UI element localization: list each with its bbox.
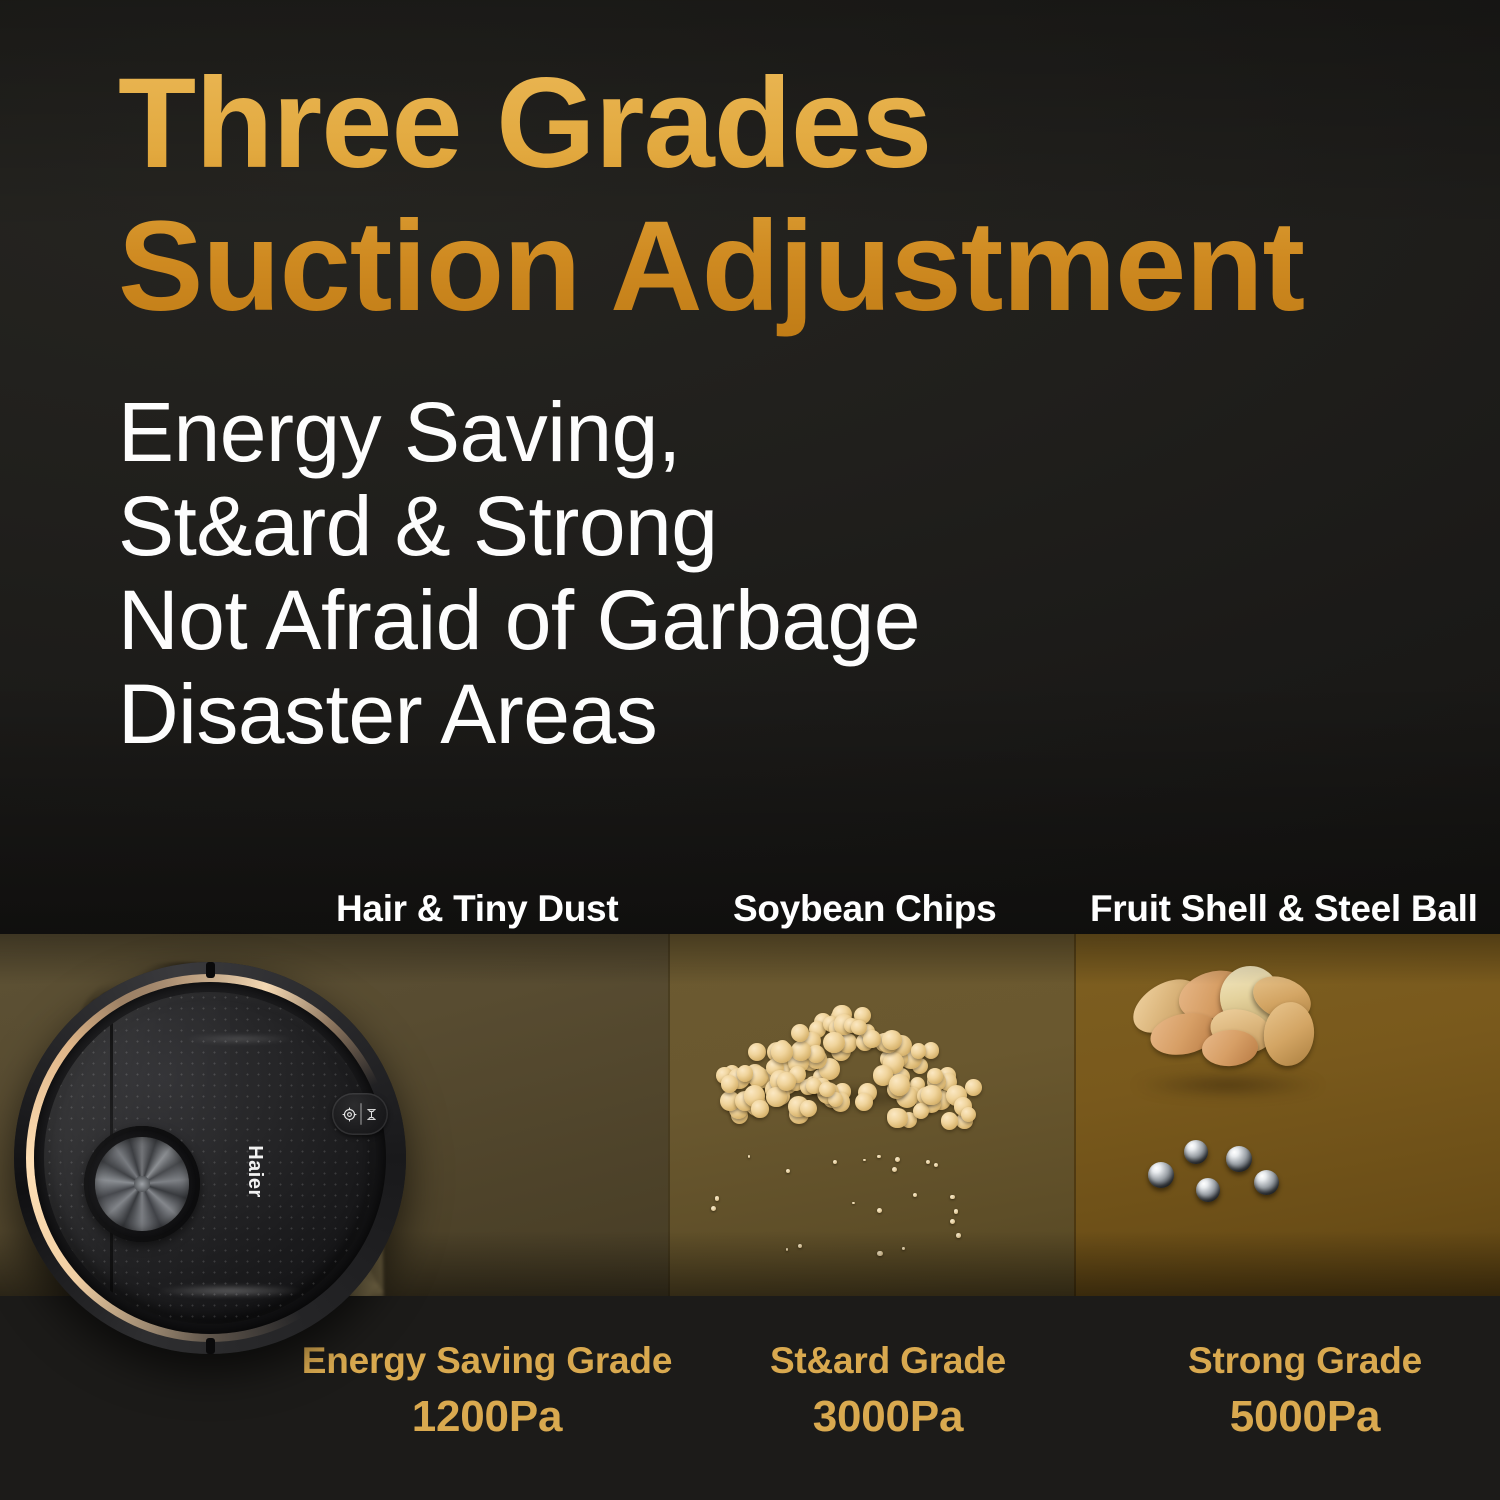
lidar-disc	[95, 1137, 189, 1231]
brand-logo: Haier	[243, 1145, 266, 1198]
grade-name: Strong Grade	[1160, 1338, 1450, 1384]
control-button-pod[interactable]	[332, 1093, 388, 1135]
demo-panel-soybeans	[668, 934, 1074, 1296]
cover-seam-line	[110, 1022, 113, 1324]
robot-vacuum: Haier	[14, 962, 406, 1354]
grade-block-energy-saving: Energy Saving Grade 1200Pa	[287, 1338, 687, 1445]
page-title: Three Grades Suction Adjustment	[118, 52, 1448, 339]
panel-caption-shells-balls: Fruit Shell & Steel Ball	[1090, 888, 1478, 930]
plate-edge-highlight-top	[164, 1032, 314, 1046]
soybean-crumbs	[706, 1142, 978, 1260]
grade-name: Energy Saving Grade	[287, 1338, 687, 1384]
panel-caption-soybeans: Soybean Chips	[733, 888, 996, 930]
subheading: Energy Saving, St&ard & Strong Not Afrai…	[118, 385, 1268, 761]
grade-block-strong: Strong Grade 5000Pa	[1160, 1338, 1450, 1445]
grade-block-standard: St&ard Grade 3000Pa	[748, 1338, 1028, 1445]
grade-suction-value: 3000Pa	[748, 1388, 1028, 1445]
bumper-nub-top	[206, 962, 215, 978]
bumper-nub-bottom	[206, 1338, 215, 1354]
power-clean-icon[interactable]	[342, 1107, 357, 1122]
steel-ball-group	[1108, 1126, 1338, 1222]
product-feature-image: Three Grades Suction Adjustment Energy S…	[0, 0, 1500, 1500]
grade-suction-value: 5000Pa	[1160, 1388, 1450, 1445]
panel-caption-hair-dust: Hair & Tiny Dust	[336, 888, 618, 930]
grade-suction-value: 1200Pa	[287, 1388, 687, 1445]
plate-edge-highlight	[130, 1282, 330, 1300]
demo-panel-shells-balls	[1074, 934, 1500, 1296]
top-cover-plate: Haier	[44, 992, 376, 1324]
soybean-pile	[712, 998, 984, 1130]
grade-name: St&ard Grade	[748, 1338, 1028, 1384]
button-divider	[360, 1103, 362, 1125]
lidar-turret	[84, 1126, 200, 1242]
fruit-shell-group	[1112, 958, 1342, 1080]
dock-home-icon[interactable]	[365, 1107, 378, 1122]
